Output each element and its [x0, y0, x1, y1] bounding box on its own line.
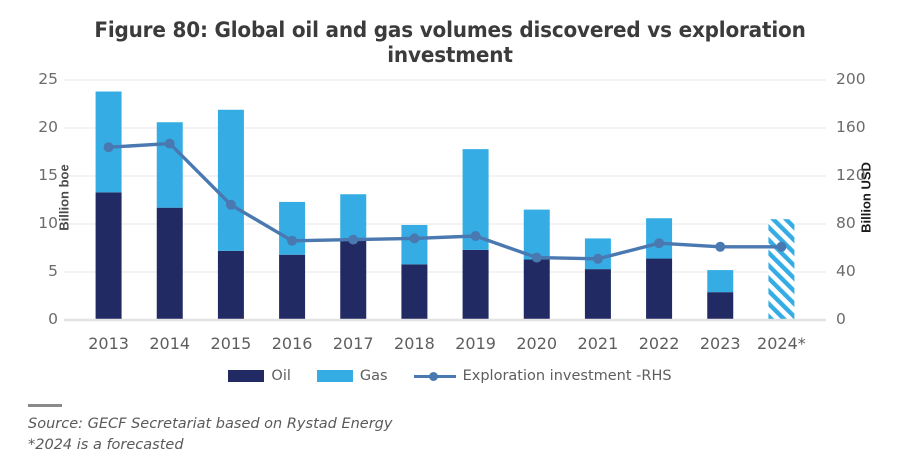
right-tick-120: 120	[836, 166, 884, 184]
exploration-investment-line	[109, 144, 782, 259]
left-tick-0: 0	[16, 310, 58, 328]
figure-container: Figure 80: Global oil and gas volumes di…	[0, 0, 900, 470]
line-point-2023	[715, 242, 725, 252]
x-tick-2016: 2016	[262, 334, 323, 353]
line-point-2020	[532, 253, 542, 263]
legend-label-gas: Gas	[360, 368, 388, 384]
bar-oil-2015	[218, 251, 244, 320]
bar-gas-2021	[585, 238, 611, 269]
right-tick-160: 160	[836, 118, 884, 136]
line-point-2018	[409, 233, 419, 243]
x-tick-2020: 2020	[506, 334, 567, 353]
forecast-note-text: *2024 is a forecasted	[28, 435, 728, 456]
gas-swatch-icon	[317, 370, 353, 382]
line-marker-icon	[414, 370, 456, 382]
plot-area: Billion boe Billion USD 0510152025 04080…	[0, 60, 900, 350]
line-point-2021	[593, 254, 603, 264]
left-tick-15: 15	[16, 166, 58, 184]
legend-item-exploration-investment[interactable]: Exploration investment -RHS	[414, 368, 672, 384]
bar-gas-2020	[524, 210, 550, 260]
bar-oil-2020	[524, 260, 550, 320]
right-tick-200: 200	[836, 70, 884, 88]
x-tick-2021: 2021	[567, 334, 628, 353]
x-tick-2013: 2013	[78, 334, 139, 353]
x-tick-2015: 2015	[200, 334, 261, 353]
left-tick-5: 5	[16, 262, 58, 280]
left-axis-title: Billion boe	[57, 128, 72, 268]
bar-oil-2019	[463, 250, 489, 320]
right-tick-40: 40	[836, 262, 884, 280]
line-point-2022	[654, 238, 664, 248]
left-tick-25: 25	[16, 70, 58, 88]
legend-label-oil: Oil	[271, 368, 290, 384]
bar-gas-2014	[157, 122, 183, 207]
x-tick-2023: 2023	[690, 334, 751, 353]
left-tick-20: 20	[16, 118, 58, 136]
footer-divider	[28, 404, 62, 407]
source-text: Source: GECF Secretariat based on Rystad…	[28, 414, 728, 435]
bar-oil-2013	[96, 192, 122, 320]
line-point-2019	[471, 231, 481, 241]
left-tick-10: 10	[16, 214, 58, 232]
chart-canvas	[0, 60, 900, 350]
right-tick-0: 0	[836, 310, 884, 328]
line-point-2024*	[776, 242, 786, 252]
x-tick-2022: 2022	[629, 334, 690, 353]
bar-gas-2015	[218, 110, 244, 251]
right-tick-80: 80	[836, 214, 884, 232]
bar-gas-2023	[707, 270, 733, 292]
bar-gas-2016	[279, 202, 305, 255]
bar-oil-2014	[157, 208, 183, 320]
bar-oil-2022	[646, 259, 672, 320]
right-axis-title: Billion USD	[859, 128, 874, 268]
x-tick-2018: 2018	[384, 334, 445, 353]
x-tick-2019: 2019	[445, 334, 506, 353]
line-point-2014	[165, 139, 175, 149]
bar-gas-2018	[401, 225, 427, 264]
bar-oil-2018	[401, 264, 427, 320]
bar-oil-2023	[707, 292, 733, 320]
bar-oil-2021	[585, 269, 611, 320]
footer-note: Source: GECF Secretariat based on Rystad…	[28, 404, 728, 456]
x-tick-2014: 2014	[139, 334, 200, 353]
legend-item-gas[interactable]: Gas	[317, 368, 388, 384]
line-point-2013	[104, 142, 114, 152]
line-point-2015	[226, 200, 236, 210]
bar-oil-2016	[279, 255, 305, 320]
bar-oil-2017	[340, 240, 366, 320]
line-point-2017	[348, 235, 358, 245]
x-tick-2024*: 2024*	[751, 334, 812, 353]
legend-item-oil[interactable]: Oil	[228, 368, 290, 384]
line-point-2016	[287, 236, 297, 246]
oil-swatch-icon	[228, 370, 264, 382]
bar-group	[96, 92, 795, 320]
line-series-group	[104, 139, 787, 264]
legend-label-exploration-investment: Exploration investment -RHS	[463, 368, 672, 384]
chart-legend: Oil Gas Exploration investment -RHS	[0, 368, 900, 384]
x-tick-2017: 2017	[323, 334, 384, 353]
bar-gas-2017	[340, 194, 366, 240]
bar-forecast-2024*	[768, 219, 794, 320]
bar-gas-2013	[96, 92, 122, 193]
